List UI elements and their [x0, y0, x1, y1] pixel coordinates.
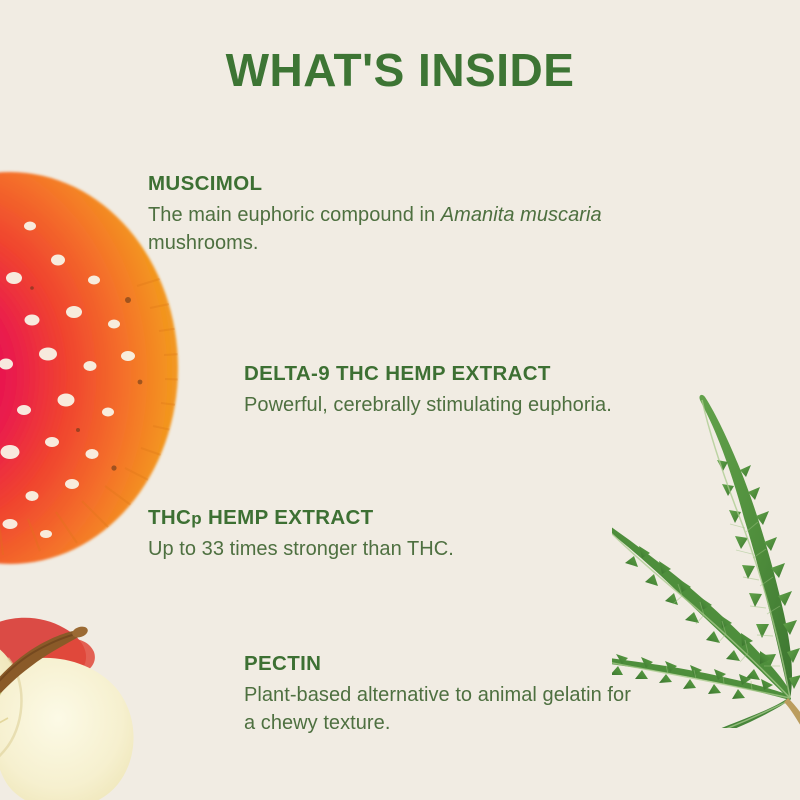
page-title: WHAT'S INSIDE — [0, 47, 800, 93]
ingredient-body-thcp: Up to 33 times stronger than THC. — [148, 535, 588, 563]
ingredient-heading-delta9: DELTA-9 THC HEMP EXTRACT — [244, 362, 714, 386]
ingredient-heading-pectin: PECTIN — [244, 652, 644, 676]
ingredient-body-delta9: Powerful, cerebrally stimulating euphori… — [244, 391, 714, 419]
ingredient-block-muscimol: MUSCIMOL The main euphoric compound in A… — [148, 172, 618, 257]
ingredient-block-delta9: DELTA-9 THC HEMP EXTRACT Powerful, cereb… — [244, 362, 714, 419]
ingredient-block-thcp: THCp HEMP EXTRACT Up to 33 times stronge… — [148, 506, 588, 563]
muscimol-body-suffix: mushrooms. — [148, 232, 259, 254]
ingredient-block-pectin: PECTIN Plant-based alternative to animal… — [244, 652, 644, 737]
thcp-heading-subscript: p — [191, 509, 202, 528]
thcp-heading-rest: HEMP EXTRACT — [202, 506, 374, 529]
ingredient-body-pectin: Plant-based alternative to animal gelati… — [244, 681, 644, 738]
thcp-heading-main: THC — [148, 506, 191, 529]
ingredient-body-muscimol: The main euphoric compound in Amanita mu… — [148, 201, 618, 258]
whats-inside-infographic: WHAT'S INSIDE MUSCIMOL The main euphoric… — [0, 0, 800, 800]
muscimol-body-prefix: The main euphoric compound in — [148, 204, 441, 226]
ingredient-heading-muscimol: MUSCIMOL — [148, 172, 618, 196]
ingredient-heading-thcp: THCp HEMP EXTRACT — [148, 506, 588, 530]
muscimol-species-name: Amanita muscaria — [441, 204, 602, 226]
content-layer: WHAT'S INSIDE MUSCIMOL The main euphoric… — [0, 0, 800, 800]
